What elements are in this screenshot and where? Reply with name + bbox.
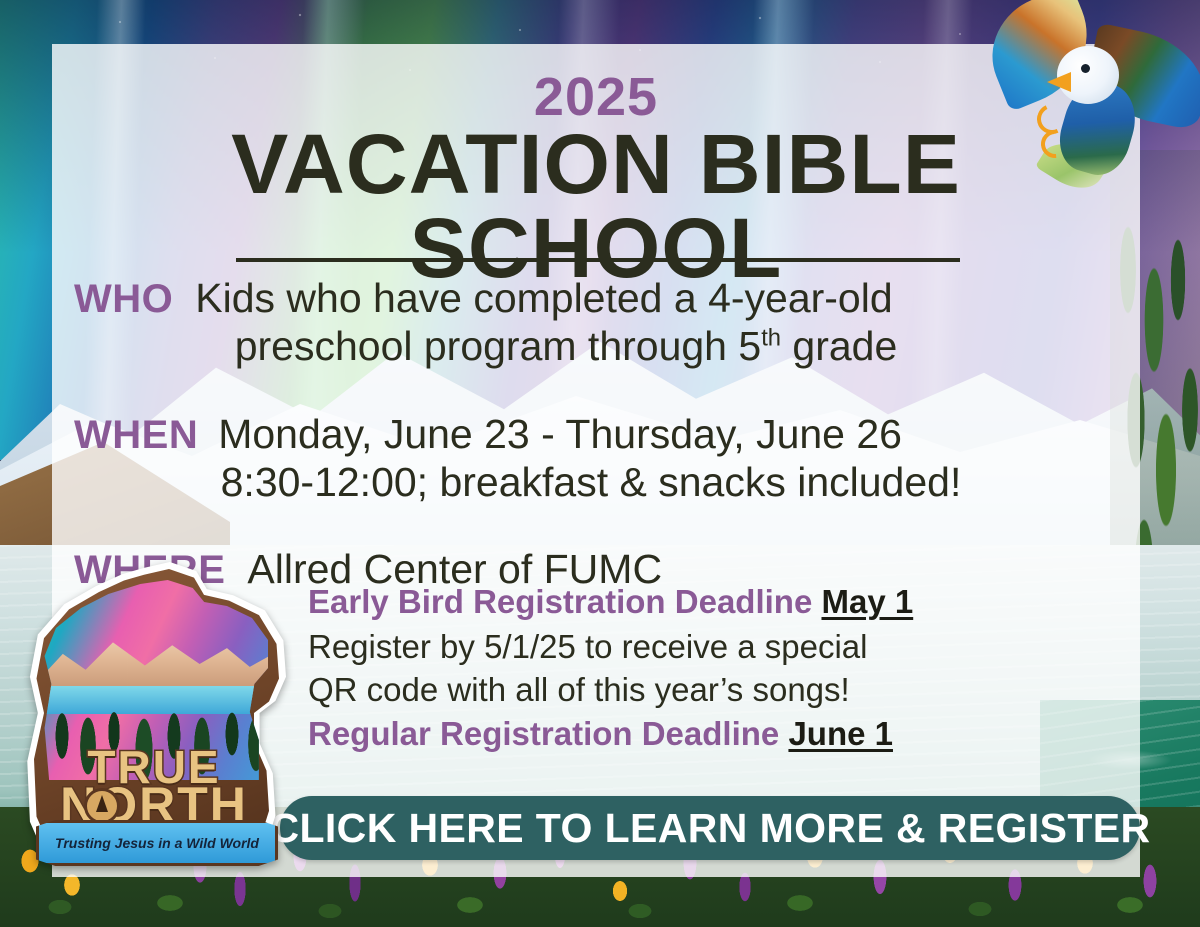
register-button-label: CLICK HERE TO LEARN MORE & REGISTER [269, 805, 1150, 852]
regular-label: Regular Registration Deadline [308, 715, 779, 752]
logo-tagline: Trusting Jesus in a Wild World [55, 835, 259, 851]
regular-deadline: Regular Registration Deadline June 1 [308, 712, 1088, 757]
registration-note-line2: QR code with all of this year’s songs! [308, 668, 1088, 712]
registration-note-line1: Register by 5/1/25 to receive a special [308, 625, 1088, 669]
who-line2-before: preschool program through 5 [235, 323, 761, 369]
early-bird-date: May 1 [821, 583, 913, 620]
year-label: 2025 [52, 70, 1140, 124]
who-ordinal-suffix: th [761, 324, 781, 351]
registration-block: Early Bird Registration Deadline May 1 R… [308, 580, 1088, 756]
page-title: VACATION BIBLE SCHOOL [41, 122, 1151, 290]
when-line2: 8:30-12:00; breakfast & snacks included! [221, 459, 962, 505]
detail-row-who: WHO Kids who have completed a 4-year-old… [52, 276, 1140, 368]
true-north-logo: TRUE NORTH Trusting Jesus in a Wild Worl… [22, 562, 286, 864]
bear-badge: TRUE NORTH Trusting Jesus in a Wild Worl… [22, 562, 286, 864]
who-line2: preschool program through 5th grade [235, 323, 898, 369]
title-divider [236, 258, 960, 262]
detail-row-when: WHEN Monday, June 23 - Thursday, June 26… [52, 412, 1140, 504]
who-label: WHO [74, 277, 173, 322]
logo-tagline-banner: Trusting Jesus in a Wild World [36, 820, 278, 866]
register-button[interactable]: CLICK HERE TO LEARN MORE & REGISTER [280, 796, 1140, 860]
when-label: WHEN [74, 413, 198, 458]
who-line2-after: grade [781, 323, 897, 369]
when-line1: Monday, June 23 - Thursday, June 26 [218, 412, 902, 456]
early-bird-deadline: Early Bird Registration Deadline May 1 [308, 580, 1088, 625]
compass-icon [84, 788, 120, 824]
who-line1: Kids who have completed a 4-year-old [195, 276, 892, 320]
vbs-flyer: 2025 VACATION BIBLE SCHOOL WHO Kids who … [0, 0, 1200, 927]
regular-date: June 1 [788, 715, 893, 752]
early-bird-label: Early Bird Registration Deadline [308, 583, 812, 620]
